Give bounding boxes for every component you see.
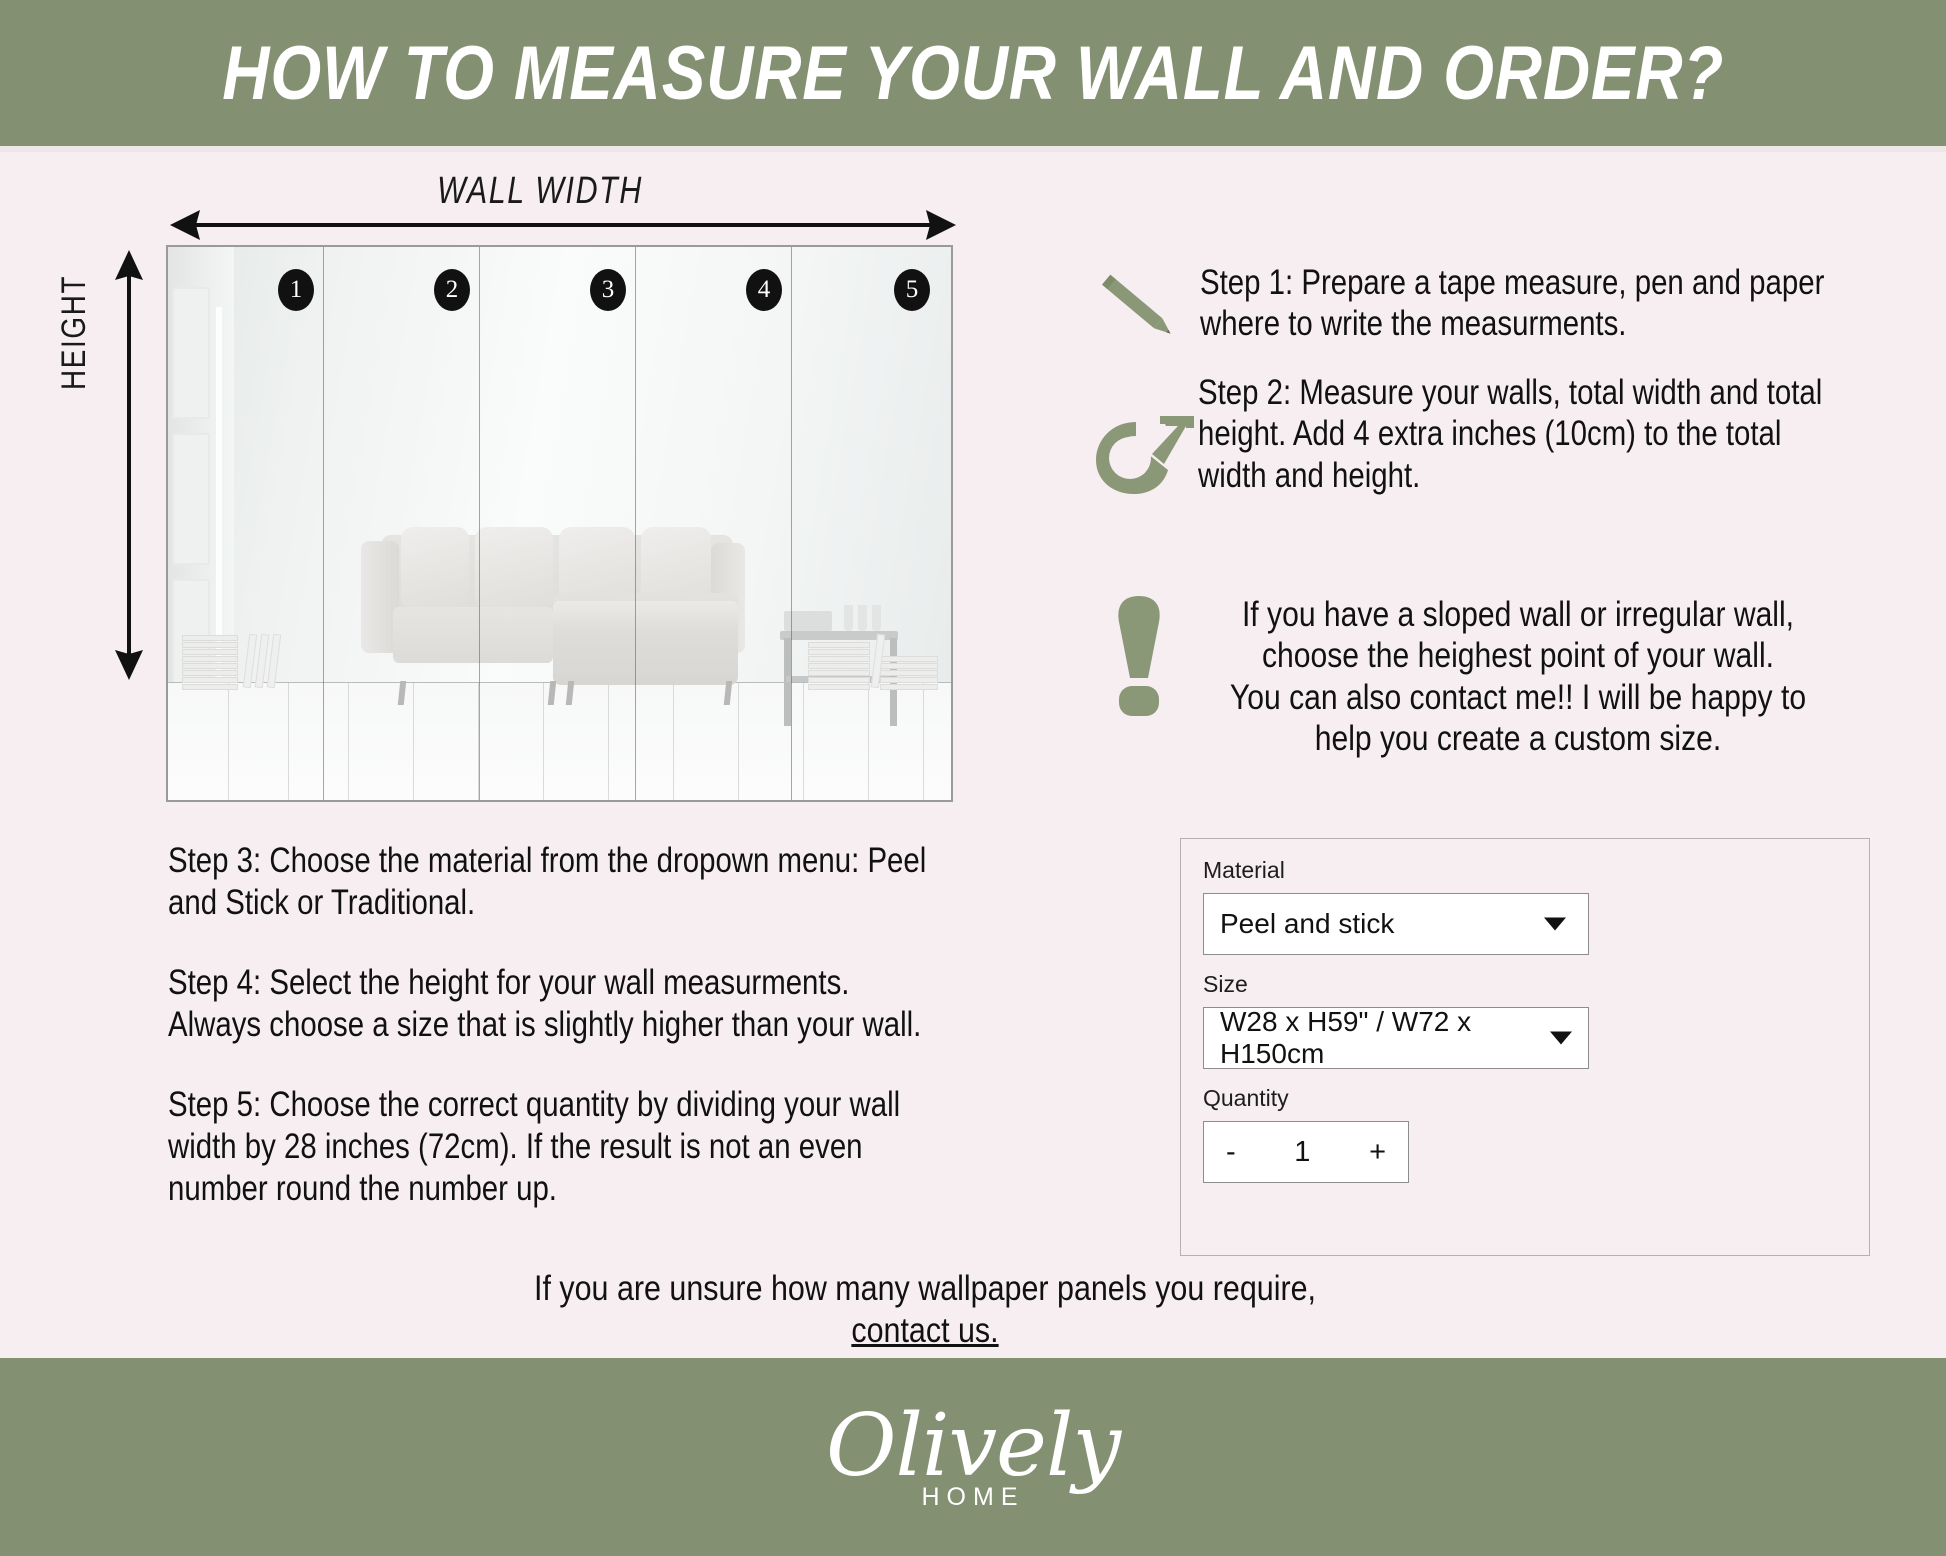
panel-divider xyxy=(479,247,480,800)
brand-logo: Olively xyxy=(826,1403,1120,1489)
order-options-panel: Material Peel and stick Size W28 x H59" … xyxy=(1180,838,1870,1256)
pencil-icon xyxy=(1082,252,1194,362)
wall-width-label: WALL WIDTH xyxy=(348,170,732,213)
warning-line-3: You can also contact me!! I will be happ… xyxy=(1200,677,1836,718)
panel-divider xyxy=(323,247,324,800)
material-select[interactable]: Peel and stick xyxy=(1203,893,1589,955)
header-divider xyxy=(0,146,1946,152)
panel-badge-2: 2 xyxy=(434,269,470,311)
wall-height-arrow-icon xyxy=(112,250,146,680)
quantity-label: Quantity xyxy=(1203,1085,1847,1112)
panel-badge-3: 3 xyxy=(590,269,626,311)
step-5-text: Step 5: Choose the correct quantity by d… xyxy=(168,1084,928,1210)
material-label: Material xyxy=(1203,857,1847,884)
quantity-decrement-button[interactable]: - xyxy=(1226,1136,1236,1169)
step-1: Step 1: Prepare a tape measure, pen and … xyxy=(1200,262,1840,345)
page-footer: Olively HOME xyxy=(0,1358,1946,1556)
glassware xyxy=(844,605,853,631)
chevron-down-icon[interactable] xyxy=(1544,918,1566,931)
quantity-increment-button[interactable]: + xyxy=(1369,1136,1386,1169)
warning-message: If you have a sloped wall or irregular w… xyxy=(1200,594,1836,759)
size-select[interactable]: W28 x H59" / W72 x H150cm xyxy=(1203,1007,1589,1069)
book-stack-left xyxy=(182,634,238,690)
page-header: HOW TO MEASURE YOUR WALL AND ORDER? xyxy=(0,0,1946,146)
chevron-down-icon[interactable] xyxy=(1550,1032,1572,1045)
wall-width-arrow-icon xyxy=(170,208,956,242)
size-label: Size xyxy=(1203,971,1847,998)
step-1-text: Step 1: Prepare a tape measure, pen and … xyxy=(1200,262,1840,345)
step-2: Step 2: Measure your walls, total width … xyxy=(1198,372,1848,496)
size-value: W28 x H59" / W72 x H150cm xyxy=(1220,1006,1572,1070)
exclamation-icon xyxy=(1104,592,1174,718)
quantity-value[interactable]: 1 xyxy=(1294,1136,1310,1169)
panel-badge-5: 5 xyxy=(894,269,930,311)
brand-logo-subtitle: HOME xyxy=(922,1483,1025,1512)
panel-divider xyxy=(635,247,636,800)
warning-line-4: help you create a custom size. xyxy=(1200,718,1836,759)
step-3-text: Step 3: Choose the material from the dro… xyxy=(168,840,928,924)
material-value: Peel and stick xyxy=(1220,908,1394,940)
book-stack-right xyxy=(880,655,938,690)
step-4-text: Step 4: Select the height for your wall … xyxy=(168,962,928,1046)
panel-divider xyxy=(791,247,792,800)
wall-height-label: HEIGHT xyxy=(55,275,94,390)
wall-preview-image: 1 2 3 4 5 xyxy=(166,245,953,802)
glassware xyxy=(872,605,881,631)
left-steps-list: Step 3: Choose the material from the dro… xyxy=(168,840,928,1248)
warning-line-1: If you have a sloped wall or irregular w… xyxy=(1200,594,1836,635)
page-title: HOW TO MEASURE YOUR WALL AND ORDER? xyxy=(222,30,1724,117)
bottom-note-text: If you are unsure how many wallpaper pan… xyxy=(534,1269,1316,1308)
sofa-graphic xyxy=(353,495,753,705)
bottom-note: If you are unsure how many wallpaper pan… xyxy=(407,1268,1442,1352)
panel-badge-1: 1 xyxy=(278,269,314,311)
warning-line-2: choose the heighest point of your wall. xyxy=(1200,635,1836,676)
contact-us-link[interactable]: contact us. xyxy=(851,1311,998,1350)
tape-measure-icon xyxy=(1090,392,1212,504)
quantity-stepper[interactable]: - 1 + xyxy=(1203,1121,1409,1183)
book-stack-right xyxy=(808,641,870,690)
step-2-text: Step 2: Measure your walls, total width … xyxy=(1198,372,1848,496)
glassware xyxy=(858,605,867,631)
panel-badge-4: 4 xyxy=(746,269,782,311)
